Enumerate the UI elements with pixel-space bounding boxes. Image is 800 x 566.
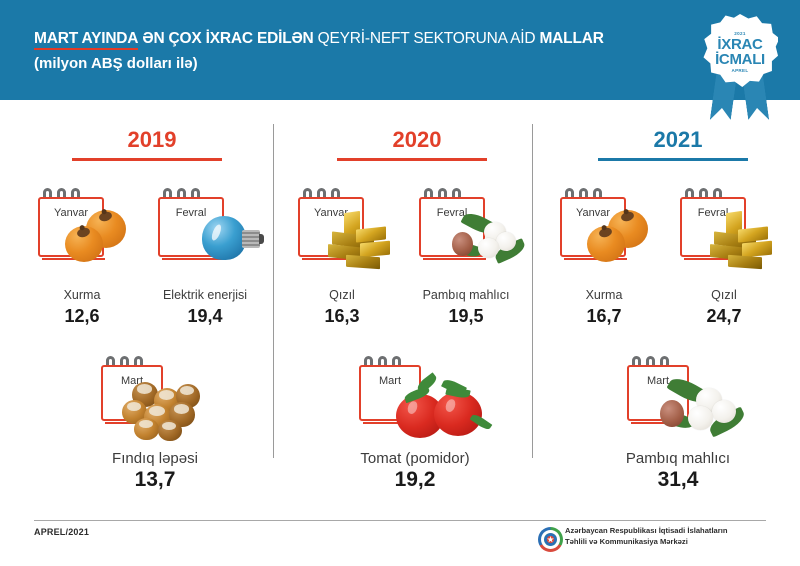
item-2019-yanvar: Yanvar Xurma 12,6 [26,188,138,327]
year-header-2020: 2020 [337,128,497,161]
hazelnut-icon [134,418,159,440]
year-underline [337,158,487,161]
ixrac-icmali-badge: 2021 İXRAC İCMALI APREL [697,12,783,120]
year-header-2019: 2019 [72,128,232,161]
item-artwork: Yanvar [26,188,138,288]
year-label: 2021 [598,128,758,152]
item-artwork: Mart [70,356,240,452]
footer-org-line-1: Azərbaycan Respublikası İqtisadi İslahat… [565,526,727,537]
item-2021-yanvar: Yanvar Xurma 16,7 [548,188,660,327]
item-value: 12,6 [26,305,138,327]
item-name: Qızıl [668,288,780,302]
infographic-page: MART AYINDA ƏN ÇOX İXRAC EDİLƏN QEYRİ-NE… [0,0,800,566]
lightbulb-base-icon [242,230,260,248]
month-label: Mart [361,375,419,387]
item-value: 16,3 [286,305,398,327]
title-part-2: ƏN ÇOX İXRAC EDİLƏN [142,30,313,47]
item-value: 19,4 [140,305,270,327]
item-artwork: Mart [578,356,778,452]
item-name: Pambıq mahlıcı [396,288,536,302]
badge-bottom-label: APREL [731,68,748,74]
title-part-3: QEYRİ-NEFT SEKTORUNA AİD [318,30,536,47]
page-title: MART AYINDA ƏN ÇOX İXRAC EDİLƏN QEYRİ-NE… [34,30,604,48]
item-value: 24,7 [668,305,780,327]
item-artwork: Fevral [140,188,270,288]
footer-org-line-2: Təhlili və Kommunikasiya Mərkəzi [565,537,727,548]
item-2021-fevral: Fevral Qızıl 24,7 [668,188,780,327]
goldbars-icon [728,255,762,269]
badge-line-2: İCMALI [715,52,765,68]
title-part-4: MALLAR [539,30,603,47]
item-name: Qızıl [286,288,398,302]
item-name: Pambıq mahlıcı [578,452,778,466]
item-2020-mart: Mart Tomat (pomidor) 19,2 [320,356,510,491]
goldbars-icon [738,226,768,242]
item-value: 31,4 [578,469,778,491]
cotton-puff-icon [688,406,713,430]
item-name: Xurma [26,288,138,302]
cotton-boll-icon [452,232,473,256]
item-2019-fevral: Fevral Elektrik enerjisi 19,4 [140,188,270,327]
goldbars-icon [742,241,772,258]
azerbaijan-emblem-icon [538,527,563,552]
item-name: Xurma [548,288,660,302]
cotton-puff-icon [712,400,736,423]
item-name: Tomat (pomidor) [320,452,510,466]
item-2021-mart: Mart Pambıq mahlıcı 31,4 [578,356,778,491]
footer-divider [34,520,766,521]
item-value: 19,5 [396,305,536,327]
goldbars-icon [356,226,386,242]
item-value: 16,7 [548,305,660,327]
item-value: 19,2 [320,469,510,491]
lightbulb-icon [202,216,246,260]
item-name: Elektrik enerjisi [140,288,270,302]
year-label: 2020 [337,128,497,152]
item-name: Fındıq ləpəsi [70,452,240,466]
page-subtitle: (milyon ABŞ dolları ilə) [34,55,198,72]
item-2019-mart: Mart Fındıq ləpəsi 13,7 [70,356,240,491]
badge-line-1: İXRAC [717,37,762,53]
lightbulb-tip-icon [259,234,264,244]
goldbars-icon [360,241,390,258]
year-label: 2019 [72,128,232,152]
item-value: 13,7 [70,469,240,491]
title-part-1: MART AYINDA [34,30,138,50]
item-2020-yanvar: Yanvar Qızıl 16,3 [286,188,398,327]
item-artwork: Yanvar [286,188,398,288]
footer-organization: Azərbaycan Respublikası İqtisadi İslahat… [565,526,727,547]
goldbars-icon [346,255,380,269]
cotton-boll-icon [660,400,684,427]
item-artwork: Fevral [396,188,536,288]
header-banner: MART AYINDA ƏN ÇOX İXRAC EDİLƏN QEYRİ-NE… [0,0,800,100]
footer-date: APREL/2021 [34,527,89,537]
item-artwork: Yanvar [548,188,660,288]
year-header-2021: 2021 [598,128,758,161]
item-artwork: Fevral [668,188,780,288]
item-2020-fevral: Fevral Pambıq mahlıcı 19,5 [396,188,536,327]
year-underline [72,158,222,161]
hazelnut-icon [158,420,182,441]
year-underline [598,158,748,161]
cotton-puff-icon [478,238,499,258]
month-label: Fevral [160,207,222,219]
item-artwork: Mart [320,356,510,452]
column-divider-1 [273,124,274,458]
cotton-puff-icon [496,232,516,251]
